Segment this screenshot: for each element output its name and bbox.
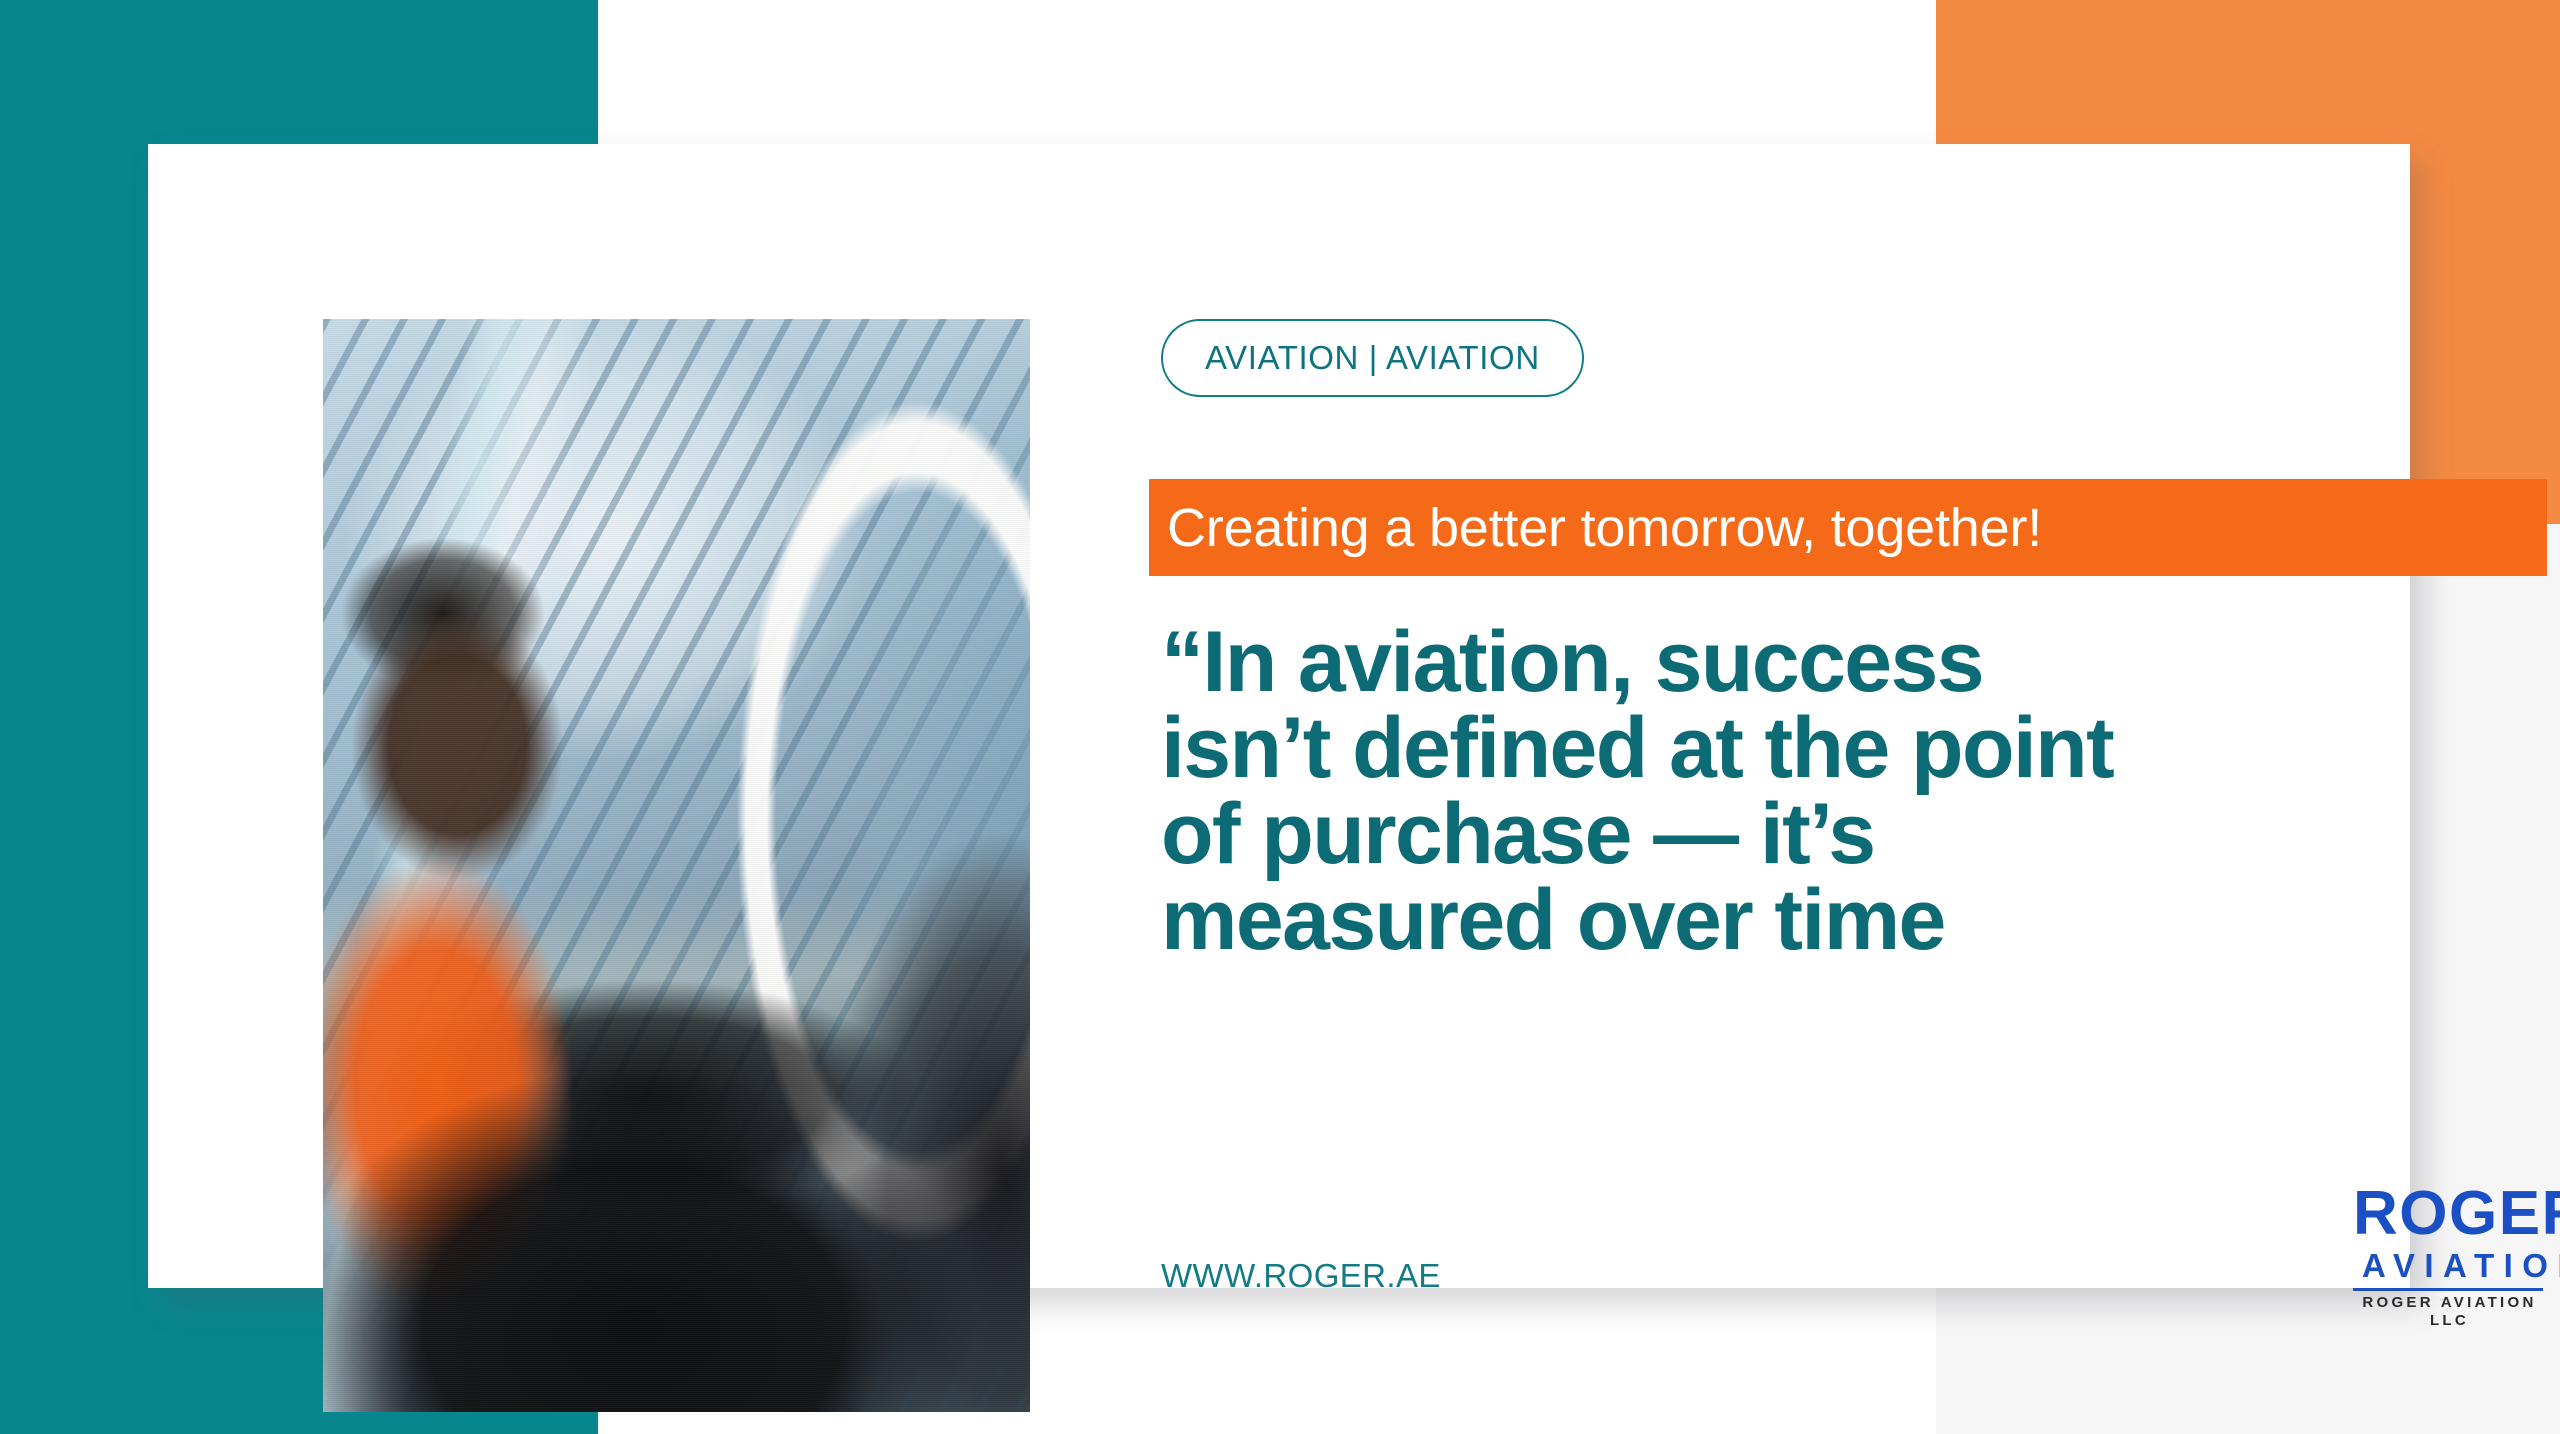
text-column: AVIATION | AVIATION Creating a better to… [1149,319,2549,397]
quote-line-3: of purchase — it’s [1161,791,2551,877]
website-url[interactable]: WWW.ROGER.AE [1161,1257,1441,1295]
logo-legal-name: ROGER AVIATION LLC [2353,1294,2543,1330]
poster-canvas: AVIATION | AVIATION Creating a better to… [0,0,2560,1434]
logo-wordmark: ROGER [2353,1183,2543,1245]
tagline-banner: Creating a better tomorrow, together! [1149,479,2547,576]
hero-photo [323,319,1030,1412]
quote-line-2: isn’t defined at the point [1161,705,2551,791]
hero-photo-image [323,319,1030,1412]
category-badge: AVIATION | AVIATION [1161,319,1584,397]
quote-block: “In aviation, success isn’t defined at t… [1161,619,2551,963]
tagline-text: Creating a better tomorrow, together! [1149,497,2042,559]
logo-divider-rule [2353,1288,2543,1291]
category-badge-label: AVIATION | AVIATION [1205,339,1540,377]
brand-logo: ROGER AVIATION ROGER AVIATION LLC [2353,1183,2543,1330]
quote-line-4: measured over time [1161,877,2551,963]
logo-sub-wordmark: AVIATION [2353,1245,2543,1286]
quote-line-1: “In aviation, success [1161,619,2551,705]
content-card: AVIATION | AVIATION Creating a better to… [148,144,2410,1288]
